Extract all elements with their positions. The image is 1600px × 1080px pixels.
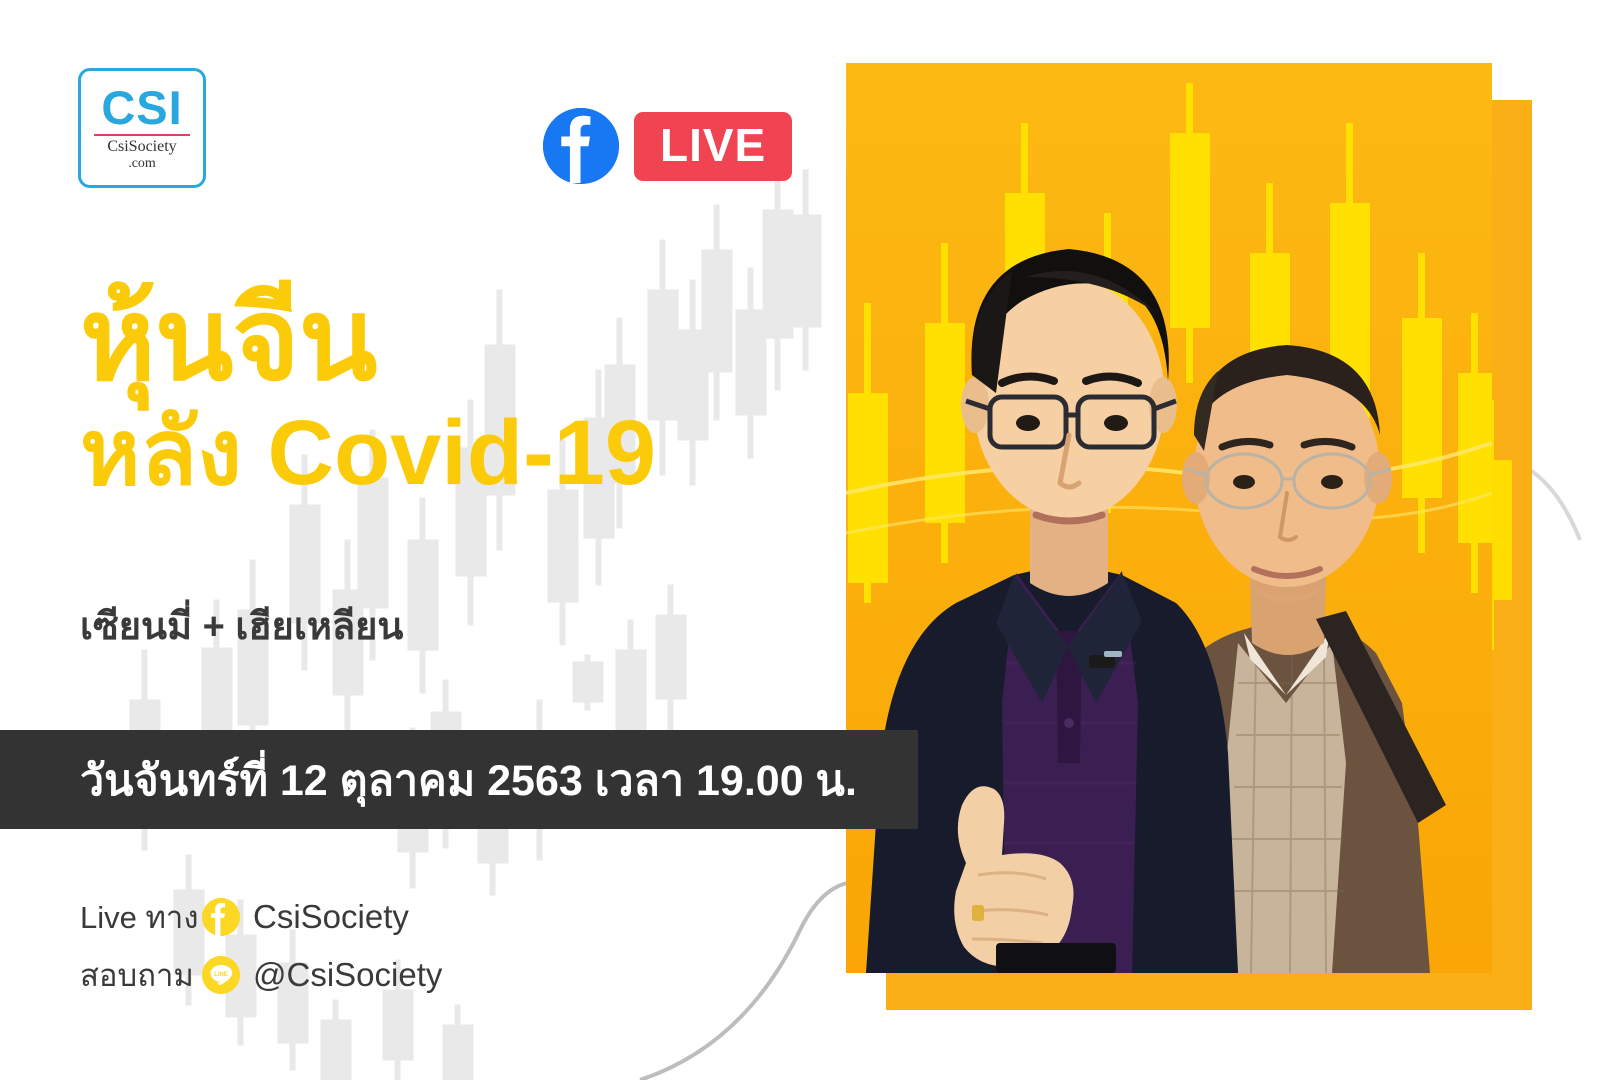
page-title: หุ้นจีน หลัง Covid-19	[80, 282, 656, 499]
facebook-icon[interactable]	[202, 898, 240, 936]
footer-row-live: Live ทาง CsiSociety	[80, 893, 442, 941]
footer-contacts: Live ทาง CsiSociety สอบถาม LINE @CsiSoci…	[80, 893, 442, 1009]
csi-logo[interactable]: CSI CsiSociety .com	[78, 68, 206, 188]
facebook-icon[interactable]	[543, 108, 619, 184]
live-label: LIVE	[634, 112, 792, 181]
footer-label-live: Live ทาง	[80, 892, 202, 942]
date-banner-text: วันจันทร์ที่ 12 ตุลาคม 2563 เวลา 19.00 น…	[80, 746, 857, 814]
poster-canvas: CSI CsiSociety .com LIVE หุ้นจีน หลัง Co…	[0, 0, 1600, 1080]
logo-divider	[94, 134, 190, 136]
logo-wordmark: CSI	[101, 84, 182, 131]
logo-domain: .com	[128, 156, 156, 172]
logo-subtext: CsiSociety	[107, 138, 176, 156]
facebook-live-badge-group[interactable]: LIVE	[543, 108, 792, 184]
footer-label-contact: สอบถาม	[80, 950, 202, 1000]
date-banner: วันจันทร์ที่ 12 ตุลาคม 2563 เวลา 19.00 น…	[0, 730, 918, 829]
headline-line-1: หุ้นจีน	[80, 282, 656, 399]
footer-value-facebook[interactable]: CsiSociety	[253, 898, 409, 936]
footer-row-contact: สอบถาม LINE @CsiSociety	[80, 951, 442, 999]
footer-value-line[interactable]: @CsiSociety	[253, 956, 442, 994]
line-icon[interactable]: LINE	[202, 956, 240, 994]
speakers-label: เซียนมี่ + เฮียเหลียน	[80, 595, 403, 656]
photo-panel-front	[846, 63, 1492, 973]
headline-line-2: หลัง Covid-19	[80, 407, 656, 499]
svg-text:LINE: LINE	[214, 972, 228, 978]
presenters-photo	[846, 63, 1492, 973]
